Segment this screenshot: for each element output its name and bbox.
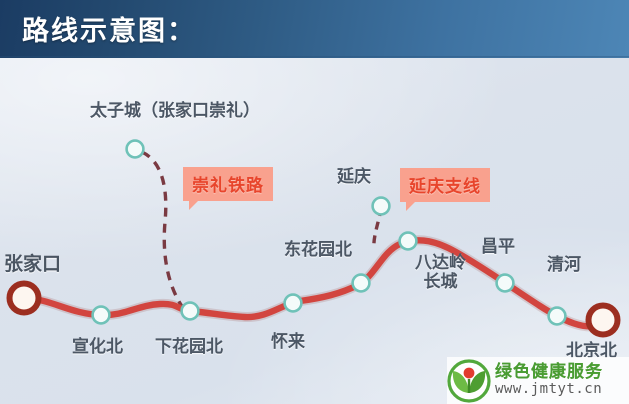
brand-logo-icon: [447, 359, 491, 403]
route-map: 太子城（张家口崇礼） 张家口 宣化北 下花园北 怀来 东花园北 延庆 八达岭 长…: [0, 58, 629, 404]
station-label-xuanhuabei: 宣化北: [72, 338, 123, 357]
station-label-badaling-line1: 八达岭: [415, 254, 466, 273]
station-label-changping: 昌平: [481, 238, 515, 257]
station-label-taizicheng: 太子城（张家口崇礼）: [90, 102, 260, 121]
station-marker-donghuayuanbei[interactable]: [353, 275, 370, 292]
station-label-huailai: 怀来: [271, 333, 305, 352]
station-label-zhangjiakou: 张家口: [4, 254, 61, 275]
watermark-url: www.jmtyt.cn: [495, 381, 603, 398]
watermark: 绿色健康服务 www.jmtyt.cn: [447, 357, 629, 404]
station-marker-xuanhuabei[interactable]: [93, 307, 110, 324]
station-marker-xiahuayuanbei[interactable]: [182, 303, 199, 320]
station-label-donghuayuanbei: 东花园北: [284, 241, 352, 260]
station-label-yanqing: 延庆: [337, 168, 371, 187]
route-diagram-page: 路线示意图：: [0, 0, 629, 404]
chongli-branch-line: [142, 152, 183, 308]
station-marker-qinghe[interactable]: [549, 308, 566, 325]
station-label-qinghe: 清河: [547, 256, 581, 275]
page-title: 路线示意图：: [22, 9, 196, 48]
watermark-text: 绿色健康服务 www.jmtyt.cn: [495, 363, 603, 398]
callout-chongli-railway: 崇礼铁路: [183, 167, 273, 201]
page-header: 路线示意图：: [0, 0, 629, 58]
station-marker-changping[interactable]: [497, 275, 514, 292]
station-label-badaling-line2: 长城: [415, 273, 466, 292]
station-marker-yanqing[interactable]: [373, 198, 390, 215]
station-marker-taizicheng[interactable]: [127, 141, 144, 158]
callout-yanqing-branch: 延庆支线: [400, 168, 490, 202]
terminal-marker-beijingbei[interactable]: [589, 306, 618, 335]
station-label-badaling: 八达岭 长城: [415, 254, 466, 292]
watermark-brand: 绿色健康服务: [495, 363, 603, 382]
terminal-marker-zhangjiakou[interactable]: [10, 284, 39, 313]
station-marker-badaling[interactable]: [400, 233, 417, 250]
station-marker-huailai[interactable]: [285, 295, 302, 312]
station-label-xiahuayuanbei: 下花园北: [155, 338, 223, 357]
